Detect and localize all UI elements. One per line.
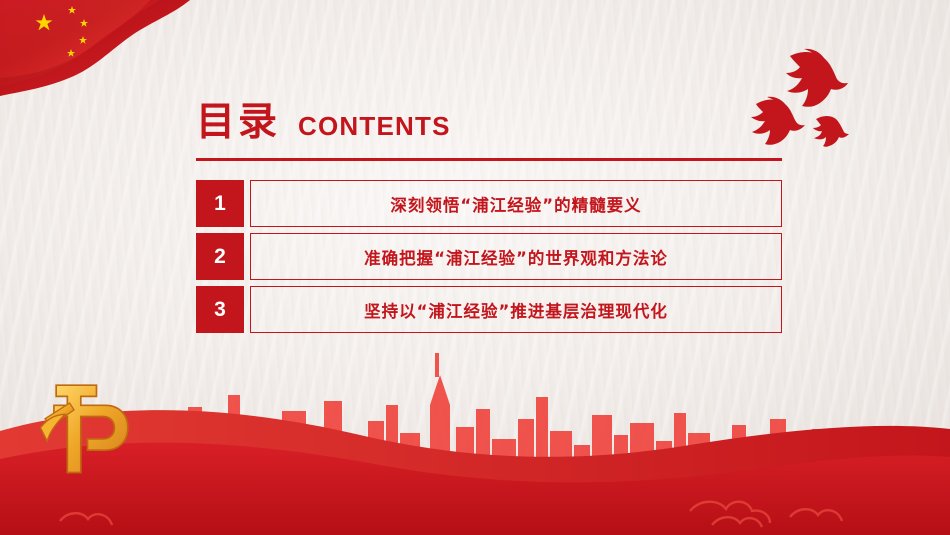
contents-item-label[interactable]: 深刻领悟“浦江经验”的精髓要义 bbox=[250, 180, 782, 227]
presentation-slide: 目录 CONTENTS 1 深刻领悟“浦江经验”的精髓要义 2 准确把握“浦江经… bbox=[0, 0, 950, 535]
title-english: CONTENTS bbox=[298, 113, 451, 142]
list-item[interactable]: 2 准确把握“浦江经验”的世界观和方法论 bbox=[196, 233, 782, 280]
contents-item-label[interactable]: 坚持以“浦江经验”推进基层治理现代化 bbox=[250, 286, 782, 333]
bottom-decoration bbox=[0, 335, 950, 535]
contents-list: 1 深刻领悟“浦江经验”的精髓要义 2 准确把握“浦江经验”的世界观和方法论 3… bbox=[196, 180, 782, 339]
peace-doves-icon bbox=[732, 48, 862, 153]
title-chinese: 目录 bbox=[196, 103, 280, 142]
list-item[interactable]: 1 深刻领悟“浦江经验”的精髓要义 bbox=[196, 180, 782, 227]
list-item[interactable]: 3 坚持以“浦江经验”推进基层治理现代化 bbox=[196, 286, 782, 333]
contents-item-label[interactable]: 准确把握“浦江经验”的世界观和方法论 bbox=[250, 233, 782, 280]
contents-item-number: 2 bbox=[196, 233, 244, 280]
contents-item-number: 1 bbox=[196, 180, 244, 227]
title-divider bbox=[196, 158, 782, 161]
chinese-flag-icon bbox=[0, 0, 250, 112]
contents-item-number: 3 bbox=[196, 286, 244, 333]
page-title: 目录 CONTENTS bbox=[196, 103, 451, 142]
